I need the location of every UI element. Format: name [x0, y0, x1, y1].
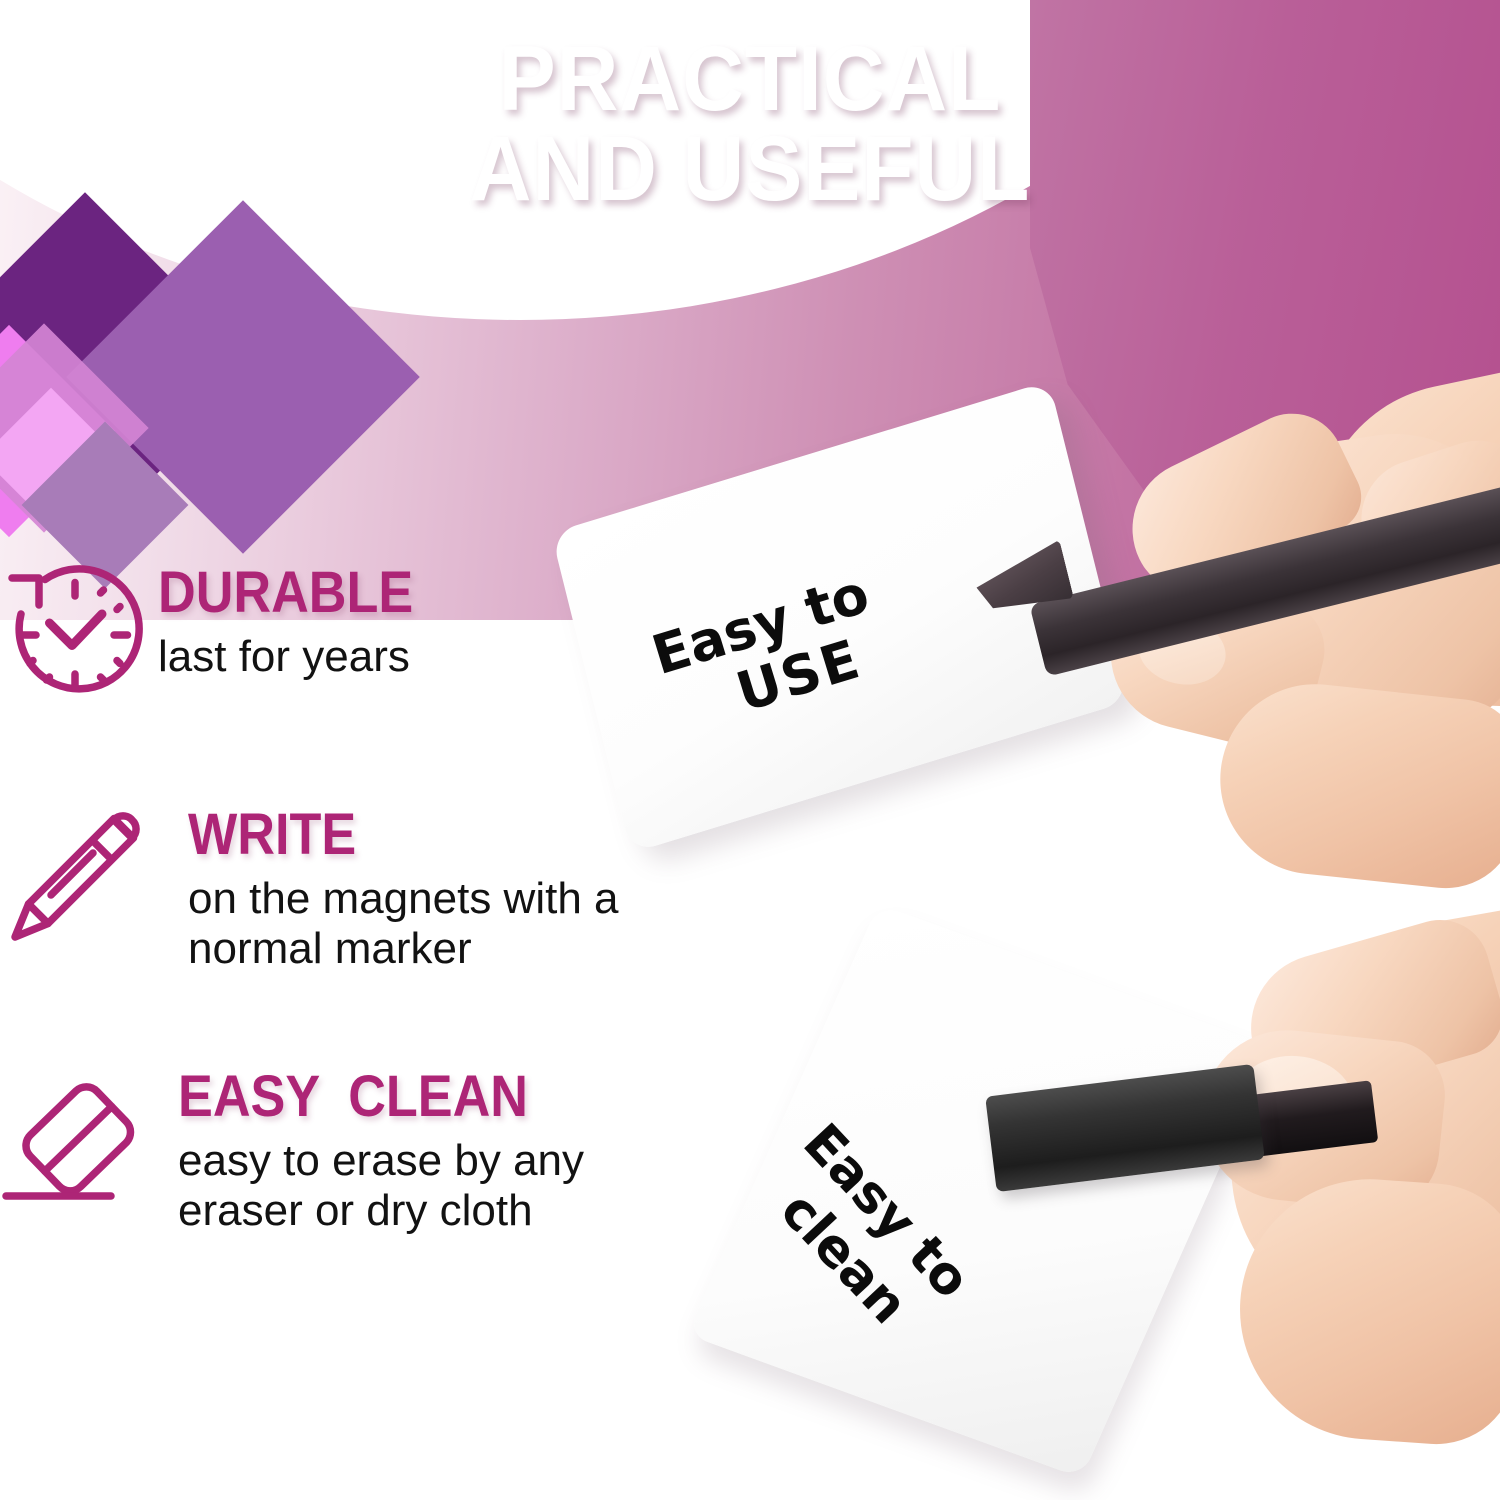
feature-subtitle: on the magnets with a normal marker — [188, 874, 760, 974]
feature-heading: WRITE — [188, 806, 703, 864]
feature-heading: DURABLE — [158, 564, 700, 622]
page-title-line-2: AND USEFUL — [53, 124, 1448, 214]
page-title-line-1: PRACTICAL — [53, 34, 1448, 124]
feature-item-write: WRITE on the magnets with a normal marke… — [0, 802, 760, 974]
black-eraser-block — [985, 1064, 1265, 1192]
lower-fingers-top — [1211, 675, 1500, 895]
infographic-canvas: PRACTICAL AND USEFUL Easy to USE — [0, 0, 1500, 1500]
feature-heading: EASY CLEAN — [178, 1068, 702, 1126]
feature-item-easy-clean: EASY CLEAN easy to erase by any eraser o… — [0, 1064, 760, 1236]
eraser-icon — [0, 1064, 150, 1214]
page-title: PRACTICAL AND USEFUL — [0, 34, 1500, 214]
photo-erase-magnet: Easy to clean — [740, 930, 1500, 1500]
decorative-diamonds — [0, 250, 430, 580]
hand-holding-eraser — [740, 930, 1500, 1500]
feature-text-durable: DURABLE last for years — [150, 560, 760, 682]
feature-text-easy-clean: EASY CLEAN easy to erase by any eraser o… — [150, 1064, 760, 1236]
feature-subtitle: last for years — [158, 632, 760, 682]
feature-subtitle: easy to erase by any eraser or dry cloth — [178, 1136, 760, 1236]
hand-holding-marker — [890, 410, 1500, 950]
feature-item-durable: DURABLE last for years — [0, 560, 760, 710]
clock-rewind-icon — [0, 560, 150, 710]
pencil-icon — [0, 802, 150, 952]
feature-text-write: WRITE on the magnets with a normal marke… — [150, 802, 760, 974]
feature-list: DURABLE last for years WRITE on the magn… — [0, 560, 760, 1055]
